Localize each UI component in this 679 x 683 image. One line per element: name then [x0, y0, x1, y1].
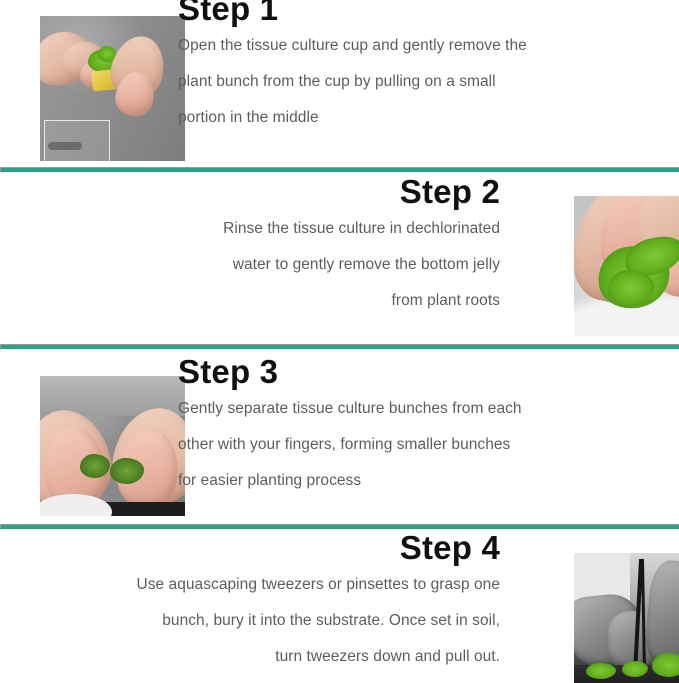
infographic-page: Step 1 Open the tissue culture cup and g…: [0, 0, 679, 683]
step-3-body-line-1: Gently separate tissue culture bunches f…: [178, 400, 522, 417]
step-3-photo-art: [40, 376, 185, 516]
step-3-image: [40, 376, 185, 516]
step-1-body-line-2: plant bunch from the cup by pulling on a…: [178, 73, 496, 90]
step-1-photo-art: [40, 16, 185, 161]
step-3-title: Step 3: [178, 353, 618, 391]
step-row-2: Step 2 Rinse the tissue culture in dechl…: [0, 165, 679, 336]
step-4-body-line-2: bunch, bury it into the substrate. Once …: [162, 612, 500, 629]
step-2-body-line-3: from plant roots: [392, 292, 500, 309]
step-1-image: [40, 16, 185, 161]
step-2-body: Rinse the tissue culture in dechlorinate…: [40, 211, 500, 319]
step-3-text: Step 3 Gently separate tissue culture bu…: [178, 353, 618, 499]
step-row-4: Step 4 Use aquascaping tweezers or pinse…: [0, 521, 679, 683]
step-3-body: Gently separate tissue culture bunches f…: [178, 391, 618, 499]
step-row-1: Step 1 Open the tissue culture cup and g…: [0, 0, 679, 161]
step-4-title: Step 4: [40, 529, 500, 567]
step-3-body-line-2: other with your fingers, forming smaller…: [178, 436, 510, 453]
step-4-body-line-3: turn tweezers down and pull out.: [275, 648, 500, 665]
step-2-body-line-2: water to gently remove the bottom jelly: [233, 256, 500, 273]
step-row-3: Step 3 Gently separate tissue culture bu…: [0, 341, 679, 516]
step-4-text: Step 4 Use aquascaping tweezers or pinse…: [40, 529, 500, 675]
step-2-text: Step 2 Rinse the tissue culture in dechl…: [40, 173, 500, 319]
step-2-title: Step 2: [40, 173, 500, 211]
step-4-body-line-1: Use aquascaping tweezers or pinsettes to…: [136, 576, 500, 593]
step-4-photo-art: [574, 553, 679, 683]
step-2-photo-art: [574, 196, 679, 336]
step-4-image: [574, 553, 679, 683]
step-2-body-line-1: Rinse the tissue culture in dechlorinate…: [223, 220, 500, 237]
step-1-body: Open the tissue culture cup and gently r…: [178, 28, 618, 136]
step-4-body: Use aquascaping tweezers or pinsettes to…: [40, 567, 500, 675]
step-3-body-line-3: for easier planting process: [178, 472, 361, 489]
step-1-body-line-3: portion in the middle: [178, 109, 319, 126]
step-1-title: Step 1: [178, 0, 618, 28]
step-2-image: [574, 196, 679, 336]
step-1-text: Step 1 Open the tissue culture cup and g…: [178, 0, 618, 136]
step-1-body-line-1: Open the tissue culture cup and gently r…: [178, 37, 527, 54]
